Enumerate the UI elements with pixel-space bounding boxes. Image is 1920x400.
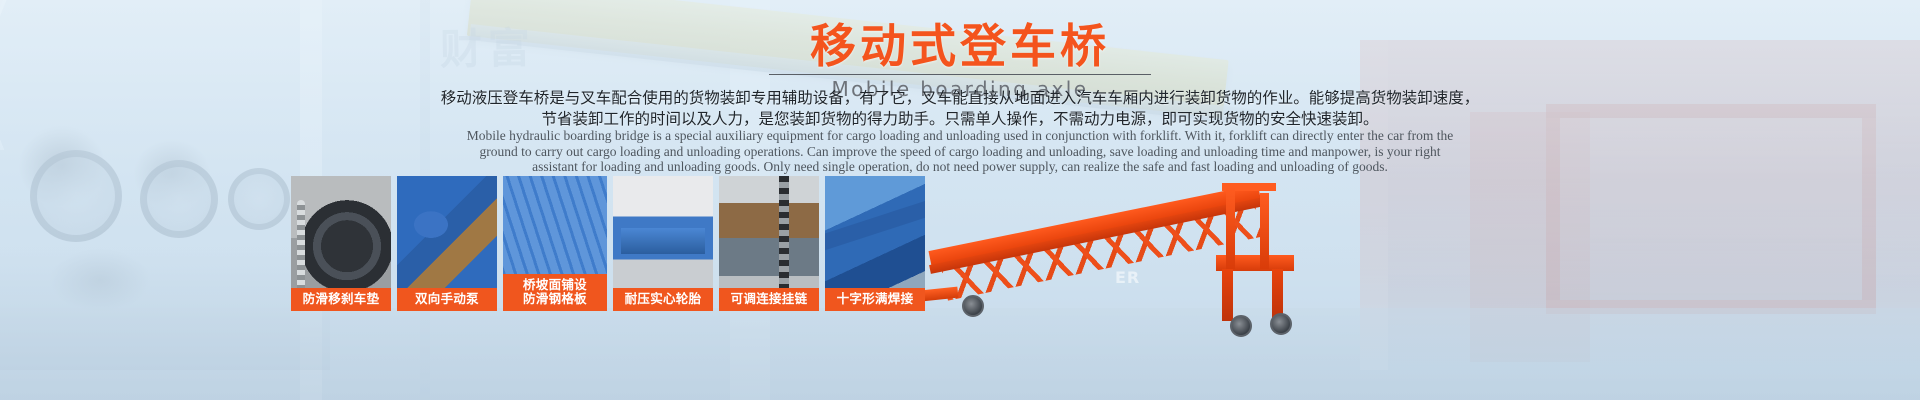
description-english: Mobile hydraulic boarding bridge is a sp… <box>0 128 1920 175</box>
ramp-rail-right <box>1260 193 1269 269</box>
description-cn-line-2: 节省装卸工作的时间以及人力，是您装卸货物的得力助手。只需单人操作，不需动力电源，… <box>0 109 1920 130</box>
feature-thumbnail-link-chain[interactable]: 可调连接挂链 <box>719 176 819 311</box>
feature-thumbnail-steel-grate[interactable]: 桥坡面铺设防滑钢格板 <box>503 176 607 311</box>
feature-caption-cross-weld: 十字形满焊接 <box>825 288 925 311</box>
feature-caption-steel-grate: 桥坡面铺设防滑钢格板 <box>503 274 607 311</box>
ramp-wheel <box>962 295 984 317</box>
image-watermark: ER <box>1115 268 1140 287</box>
ramp-rail-left <box>1226 187 1235 269</box>
feature-caption-hand-pump: 双向手动泵 <box>397 288 497 311</box>
description-en-line-1: Mobile hydraulic boarding bridge is a sp… <box>0 128 1920 144</box>
page-title: 移动式登车桥 <box>0 22 1920 72</box>
ramp-leg-right <box>1272 269 1283 319</box>
feature-thumbnail-hand-pump[interactable]: 双向手动泵 <box>397 176 497 311</box>
ramp-wheel <box>1270 313 1292 335</box>
ramp-leg-left <box>1222 269 1233 321</box>
feature-thumbnail-cross-weld[interactable]: 十字形满焊接 <box>825 176 925 311</box>
description-en-line-2: ground to carry out cargo loading and un… <box>0 144 1920 160</box>
feature-caption-brake-pad: 防滑移刹车垫 <box>291 288 391 311</box>
feature-thumbnail-brake-pad[interactable]: 防滑移刹车垫 <box>291 176 391 311</box>
feature-thumbnail-strip: 防滑移刹车垫双向手动泵桥坡面铺设防滑钢格板耐压实心轮胎可调连接挂链十字形满焊接 <box>291 176 925 311</box>
product-banner: 财富 ER 移动式登车桥 Mobile boarding axle 移动液压登车… <box>0 0 1920 400</box>
dock-ramp-product-image <box>930 195 1350 335</box>
feature-caption-link-chain: 可调连接挂链 <box>719 288 819 311</box>
description-cn-line-1: 移动液压登车桥是与叉车配合使用的货物装卸专用辅助设备，有了它，叉车能直接从地面进… <box>0 88 1920 109</box>
ramp-wheel <box>1230 315 1252 337</box>
feature-caption-solid-tyre: 耐压实心轮胎 <box>613 288 713 311</box>
description-chinese: 移动液压登车桥是与叉车配合使用的货物装卸专用辅助设备，有了它，叉车能直接从地面进… <box>0 88 1920 130</box>
description-en-line-3: assistant for loading and unloading good… <box>0 159 1920 175</box>
feature-thumbnail-solid-tyre[interactable]: 耐压实心轮胎 <box>613 176 713 311</box>
